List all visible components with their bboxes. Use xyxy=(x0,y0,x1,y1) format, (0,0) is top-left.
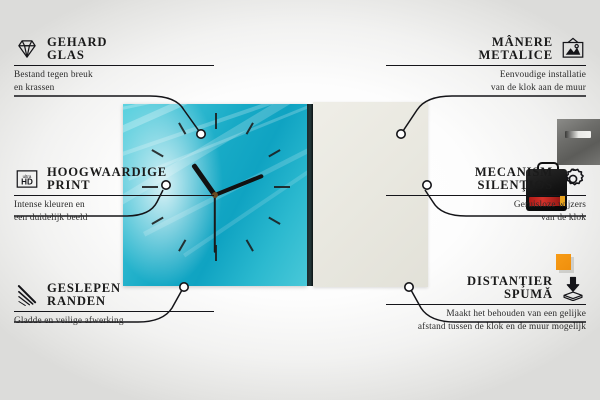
feature-subtitle: Geruisloze wijzers van de klok xyxy=(386,199,586,224)
infographic-canvas: GEHARD GLAS Bestand tegen breuk en krass… xyxy=(0,0,600,400)
feature-subtitle: Gladde en veilige afwerking xyxy=(14,315,214,327)
feature-divider xyxy=(14,311,214,312)
connector-dot-manere xyxy=(397,130,405,138)
feature-divider xyxy=(14,65,214,66)
gear-icon xyxy=(560,166,586,192)
feature-subtitle-line1: Geruisloze wijzers xyxy=(386,199,586,211)
feature-title-line2: PRINT xyxy=(47,179,167,192)
feature-subtitle: Eenvoudige installatie van de klok aan d… xyxy=(386,69,586,94)
feature-divider xyxy=(386,65,586,66)
feature-subtitle-line1: Eenvoudige installatie xyxy=(386,69,586,81)
feature-manere-metalice[interactable]: MÂNERE METALICE Eenvoudige installatie v… xyxy=(386,36,586,94)
feature-gehard-glas[interactable]: GEHARD GLAS Bestand tegen breuk en krass… xyxy=(14,36,214,94)
feature-subtitle-line1: Gladde en veilige afwerking xyxy=(14,315,214,327)
connector-dot-gehard-glas xyxy=(197,130,205,138)
feature-title-line2: SILENŢIOS xyxy=(477,179,553,192)
ultra-hd-icon: ultra HD xyxy=(14,166,40,192)
feature-divider xyxy=(386,195,586,196)
feature-subtitle-line2: een duidelijk beeld xyxy=(14,212,214,224)
feature-subtitle-line2: van de klok aan de muur xyxy=(386,82,586,94)
feature-title-line2: SPUMĂ xyxy=(504,288,553,301)
feature-divider xyxy=(14,195,214,196)
feature-hoogwaardige-print[interactable]: ultra HD HOOGWAARDIGE PRINT Intense kleu… xyxy=(14,166,214,224)
feature-title-line2: GLAS xyxy=(47,49,107,62)
feature-subtitle-line2: van de klok xyxy=(386,212,586,224)
diamond-icon xyxy=(14,36,40,62)
feature-subtitle-line1: Intense kleuren en xyxy=(14,199,214,211)
feature-distantier-spuma[interactable]: DISTANŢIER SPUMĂ Maakt het behouden van … xyxy=(386,275,586,333)
feature-title-line2: METALICE xyxy=(479,49,553,62)
feature-mecanism-silentios[interactable]: MECANISM SILENŢIOS Geruisloze wijzers va… xyxy=(386,166,586,224)
feature-divider xyxy=(386,304,586,305)
feature-title-line2: RANDEN xyxy=(47,295,121,308)
feature-subtitle-line1: Bestand tegen breuk xyxy=(14,69,214,81)
bevelled-edges-icon xyxy=(14,282,40,308)
feature-subtitle: Bestand tegen breuk en krassen xyxy=(14,69,214,94)
feature-subtitle: Intense kleuren en een duidelijk beeld xyxy=(14,199,214,224)
picture-frame-hanger-icon xyxy=(560,36,586,62)
feature-subtitle-line2: en krassen xyxy=(14,82,214,94)
foam-spacer-arrow-icon xyxy=(560,275,586,301)
feature-subtitle-line2: afstand tussen de klok en de muur mogeli… xyxy=(386,321,586,333)
feature-geslepen-randen[interactable]: GESLEPEN RANDEN Gladde en veilige afwerk… xyxy=(14,282,214,328)
ultra-hd-big-label: HD xyxy=(21,178,33,187)
feature-subtitle: Maakt het behouden van een gelijke afsta… xyxy=(386,308,586,333)
feature-subtitle-line1: Maakt het behouden van een gelijke xyxy=(386,308,586,320)
